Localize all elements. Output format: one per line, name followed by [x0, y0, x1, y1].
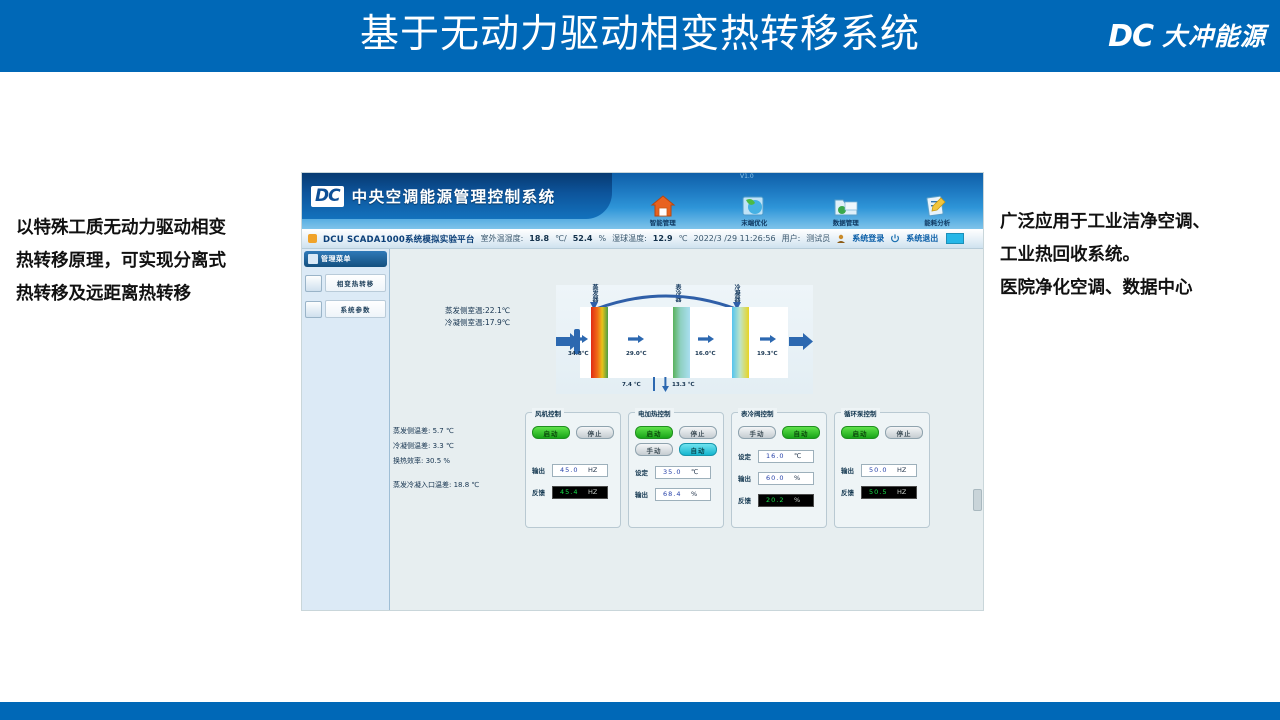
system-logout-link[interactable]: 系统退出	[906, 233, 938, 244]
stage-temp-4: 19.3℃	[757, 351, 778, 357]
stage-temp-2: 29.0℃	[626, 351, 647, 357]
menu-icon	[308, 254, 318, 264]
system-login-link[interactable]: 系统登录	[852, 233, 884, 244]
chart-icon	[305, 275, 322, 292]
heater-auto-button[interactable]: 自动	[679, 443, 717, 456]
heater-output-row: 输出 68.4 %	[635, 487, 711, 501]
nav-item-terminal-optimization[interactable]: 末端优化	[713, 194, 795, 229]
status-user-label: 用户:	[782, 233, 801, 244]
nav-item-intelligent-management[interactable]: 智能管理	[622, 194, 704, 229]
nav-label: 末端优化	[713, 219, 795, 227]
arrow-down-icon	[662, 377, 669, 392]
panel-title: 电加热控制	[635, 408, 674, 418]
stat-unit: ℃	[471, 481, 479, 489]
panel-fan-control: 风机控制 启动 停止 输出 45.0 HZ 反馈 45.4 HZ	[525, 412, 621, 528]
nav-item-energy-analysis[interactable]: 能耗分析	[896, 194, 978, 229]
status-outdoor-temp-unit: ℃/	[555, 234, 567, 243]
scada-sidebar: 管理菜单 相变热转移 系统参数	[302, 249, 390, 610]
nav-label: 数据管理	[805, 219, 887, 227]
heater-stop-button[interactable]: 停止	[679, 426, 717, 439]
field-label: 设定	[738, 451, 755, 461]
field-label: 反馈	[738, 495, 755, 505]
sidebar-item-phase-change-heat-transfer[interactable]: 相变热转移	[305, 273, 386, 293]
sidebar-header-label: 管理菜单	[321, 254, 351, 264]
caption-left-line-2: 热转移原理，可实现分离式	[16, 245, 296, 278]
control-panels: 风机控制 启动 停止 输出 45.0 HZ 反馈 45.4 HZ	[525, 412, 975, 534]
stat-label: 冷凝侧温差:	[393, 442, 430, 450]
fan-stop-button[interactable]: 停止	[576, 426, 614, 439]
stat-row: 冷凝侧温差: 3.3 ℃	[393, 439, 479, 454]
pump-output-row: 输出 50.0 HZ	[841, 463, 917, 477]
field-value: 68.4	[659, 490, 691, 498]
nav-label: 能耗分析	[896, 219, 978, 227]
outlet-arrow-icon	[789, 333, 813, 350]
sidebar-item-label: 相变热转移	[325, 274, 386, 292]
pump-feedback-field: 50.5 HZ	[861, 486, 917, 499]
scada-logo-mark: DC	[311, 186, 344, 207]
status-wetbulb-unit: ℃	[679, 234, 688, 243]
caption-right-line-2: 工业热回收系统。	[1000, 239, 1272, 272]
stat-unit: %	[443, 457, 450, 465]
field-label: 输出	[841, 465, 858, 475]
valve-setpoint-row: 设定 16.0 ℃	[738, 449, 814, 463]
report-pen-icon	[924, 194, 950, 218]
valve-auto-button[interactable]: 自动	[782, 426, 820, 439]
scada-nav: 智能管理 末端优化 数据管理	[617, 175, 983, 229]
field-value: 60.0	[762, 474, 794, 482]
valve-output-field[interactable]: 60.0 %	[758, 472, 814, 485]
stat-value: 18.8	[454, 481, 470, 489]
field-label: 反馈	[532, 487, 549, 497]
stat-value: 30.5	[426, 457, 442, 465]
valve-manual-button[interactable]: 手动	[738, 426, 776, 439]
heater-output-field[interactable]: 68.4 %	[655, 488, 711, 501]
stat-unit: ℃	[446, 442, 454, 450]
room-temperature-readouts: 蒸发侧室温:22.1℃ 冷凝侧室温:17.9℃	[445, 305, 510, 329]
pump-output-field[interactable]: 50.0 HZ	[861, 464, 917, 477]
heater-manual-button[interactable]: 手动	[635, 443, 673, 456]
pump-stop-button[interactable]: 停止	[885, 426, 923, 439]
field-unit: HZ	[588, 466, 604, 474]
slide-footer-bar	[0, 702, 1280, 720]
field-unit: HZ	[897, 488, 913, 496]
flow-arrow-icon	[572, 335, 588, 343]
panel-title: 循环泵控制	[841, 408, 880, 418]
sidebar-header: 管理菜单	[304, 251, 387, 267]
field-unit: ℃	[794, 452, 810, 460]
refresh-leaf-icon	[741, 194, 767, 218]
field-unit: HZ	[588, 488, 604, 496]
temp-marker	[653, 377, 655, 391]
scada-screenshot: DC 中央空调能源管理控制系统 V1.0 智能管理 末端优化	[301, 172, 984, 611]
status-app-name: DCU SCADA1000系统模拟实验平台	[323, 233, 475, 245]
field-label: 反馈	[841, 487, 858, 497]
stat-label: 换热效率:	[393, 457, 423, 465]
stat-row: 蒸发侧温差: 5.7 ℃	[393, 424, 479, 439]
heater-setpoint-row: 设定 35.0 ℃	[635, 465, 711, 479]
fan-feedback-field: 45.4 HZ	[552, 486, 608, 499]
stat-label: 蒸发冷凝入口温差:	[393, 481, 451, 489]
fan-feedback-row: 反馈 45.4 HZ	[532, 485, 608, 499]
scada-header: DC 中央空调能源管理控制系统 V1.0 智能管理 末端优化	[302, 173, 983, 229]
status-outdoor-label: 室外温湿度:	[481, 233, 524, 244]
caption-right-line-1: 广泛应用于工业洁净空调、	[1000, 206, 1272, 239]
caption-right: 广泛应用于工业洁净空调、 工业热回收系统。 医院净化空调、数据中心	[1000, 206, 1272, 305]
status-chip	[946, 233, 964, 244]
scada-system-title: 中央空调能源管理控制系统	[352, 185, 556, 207]
process-diagram: 蒸发器 表冷器 冷凝器	[556, 285, 813, 394]
field-unit: %	[794, 474, 810, 482]
slide-header-bar: 基于无动力驱动相变热转移系统 DC 大冲能源	[0, 0, 1280, 72]
stat-unit: ℃	[446, 427, 454, 435]
field-value: 45.0	[556, 466, 588, 474]
valve-setpoint-field[interactable]: 16.0 ℃	[758, 450, 814, 463]
page-title: 基于无动力驱动相变热转移系统	[0, 8, 1280, 62]
status-wetbulb-value: 12.9	[653, 234, 673, 243]
sidebar-item-label: 系统参数	[325, 300, 386, 318]
power-icon	[890, 234, 900, 243]
cooling-coil	[673, 307, 690, 378]
scrollbar-thumb[interactable]	[973, 489, 982, 511]
status-outdoor-humidity-unit: %	[598, 234, 606, 243]
field-label: 输出	[532, 465, 549, 475]
stat-row: 蒸发冷凝入口温差: 18.8 ℃	[393, 478, 479, 493]
stat-label: 蒸发侧温差:	[393, 427, 430, 435]
field-label: 输出	[635, 489, 652, 499]
chart-icon	[305, 301, 322, 318]
scada-branding: DC 中央空调能源管理控制系统	[302, 173, 612, 219]
panel-electric-heater-control: 电加热控制 启动 停止 手动 自动 设定 35.0 ℃ 输出 68.4 %	[628, 412, 724, 528]
panel-cooling-valve-control: 表冷阀控制 手动 自动 设定 16.0 ℃ 输出 60.0 %	[731, 412, 827, 528]
brand-logo: DC 大冲能源	[1108, 16, 1266, 58]
field-value: 50.5	[865, 488, 897, 496]
field-unit: HZ	[897, 466, 913, 474]
caption-left-line-3: 热转移及远距离热转移	[16, 278, 296, 311]
stat-row: 换热效率: 30.5 %	[393, 454, 479, 469]
scada-main-area: 蒸发侧室温:22.1℃ 冷凝侧室温:17.9℃ 蒸发器 表冷器 冷凝器	[390, 249, 983, 610]
caption-left-line-1: 以特殊工质无动力驱动相变	[16, 212, 296, 245]
status-wetbulb-label: 湿球温度:	[612, 233, 647, 244]
efficiency-stats: 蒸发侧温差: 5.7 ℃ 冷凝侧温差: 3.3 ℃ 换热效率: 30.5 % 蒸…	[393, 424, 479, 493]
bottom-temp-1: 7.4 ℃	[622, 382, 641, 388]
field-value: 16.0	[762, 452, 794, 460]
flow-arrow-icon	[760, 335, 776, 343]
fan-output-field[interactable]: 45.0 HZ	[552, 464, 608, 477]
evaporator-room-temp: 蒸发侧室温:22.1℃	[445, 305, 510, 317]
stage-temp-1: 34.8℃	[568, 351, 589, 357]
valve-feedback-row: 反馈 20.2 %	[738, 493, 814, 507]
panel-title: 风机控制	[532, 408, 564, 418]
stat-value: 3.3	[433, 442, 444, 450]
flow-arrow-icon	[628, 335, 644, 343]
scada-status-bar: DCU SCADA1000系统模拟实验平台 室外温湿度: 18.8 ℃/ 52.…	[302, 229, 983, 249]
field-label: 输出	[738, 473, 755, 483]
status-outdoor-temp: 18.8	[529, 234, 549, 243]
stat-value: 5.7	[433, 427, 444, 435]
panel-circulation-pump-control: 循环泵控制 启动 停止 输出 50.0 HZ 反馈 50.5 HZ	[834, 412, 930, 528]
field-unit: %	[794, 496, 810, 504]
field-value: 35.0	[659, 468, 691, 476]
pump-feedback-row: 反馈 50.5 HZ	[841, 485, 917, 499]
nav-label: 智能管理	[622, 219, 704, 227]
user-login-icon	[836, 234, 846, 243]
caption-left: 以特殊工质无动力驱动相变 热转移原理，可实现分离式 热转移及远距离热转移	[16, 212, 296, 311]
field-unit: %	[691, 490, 707, 498]
field-unit: ℃	[691, 468, 707, 476]
evaporator-coil	[591, 307, 608, 378]
status-outdoor-humidity: 52.4	[573, 234, 593, 243]
home-icon	[650, 194, 676, 218]
pump-start-button[interactable]: 启动	[841, 426, 879, 439]
valve-feedback-field: 20.2 %	[758, 494, 814, 507]
status-datetime: 2022/3 /29 11:26:56	[694, 234, 776, 243]
nav-item-data-management[interactable]: 数据管理	[805, 194, 887, 229]
status-user-name: 测试员	[806, 233, 830, 244]
heater-setpoint-field[interactable]: 35.0 ℃	[655, 466, 711, 479]
flow-arrow-icon	[698, 335, 714, 343]
spacer	[393, 469, 479, 478]
fan-start-button[interactable]: 启动	[532, 426, 570, 439]
heater-start-button[interactable]: 启动	[635, 426, 673, 439]
caption-right-line-3: 医院净化空调、数据中心	[1000, 272, 1272, 305]
condenser-coil	[732, 307, 749, 378]
condenser-room-temp: 冷凝侧室温:17.9℃	[445, 317, 510, 329]
fan-output-row: 输出 45.0 HZ	[532, 463, 608, 477]
brand-mark: DC	[1108, 21, 1153, 53]
valve-output-row: 输出 60.0 %	[738, 471, 814, 485]
folder-icon	[833, 194, 859, 218]
panel-title: 表冷阀控制	[738, 408, 777, 418]
stage-temp-3: 16.0℃	[695, 351, 716, 357]
bottom-temp-2: 13.3 ℃	[672, 382, 695, 388]
field-label: 设定	[635, 467, 652, 477]
app-icon	[308, 234, 317, 243]
field-value: 45.4	[556, 488, 588, 496]
field-value: 20.2	[762, 496, 794, 504]
sidebar-item-system-parameters[interactable]: 系统参数	[305, 299, 386, 319]
brand-name: 大冲能源	[1162, 22, 1266, 52]
duct-body: 34.8℃ 29.0℃ 16.0℃ 19.3℃	[580, 307, 788, 378]
field-value: 50.0	[865, 466, 897, 474]
